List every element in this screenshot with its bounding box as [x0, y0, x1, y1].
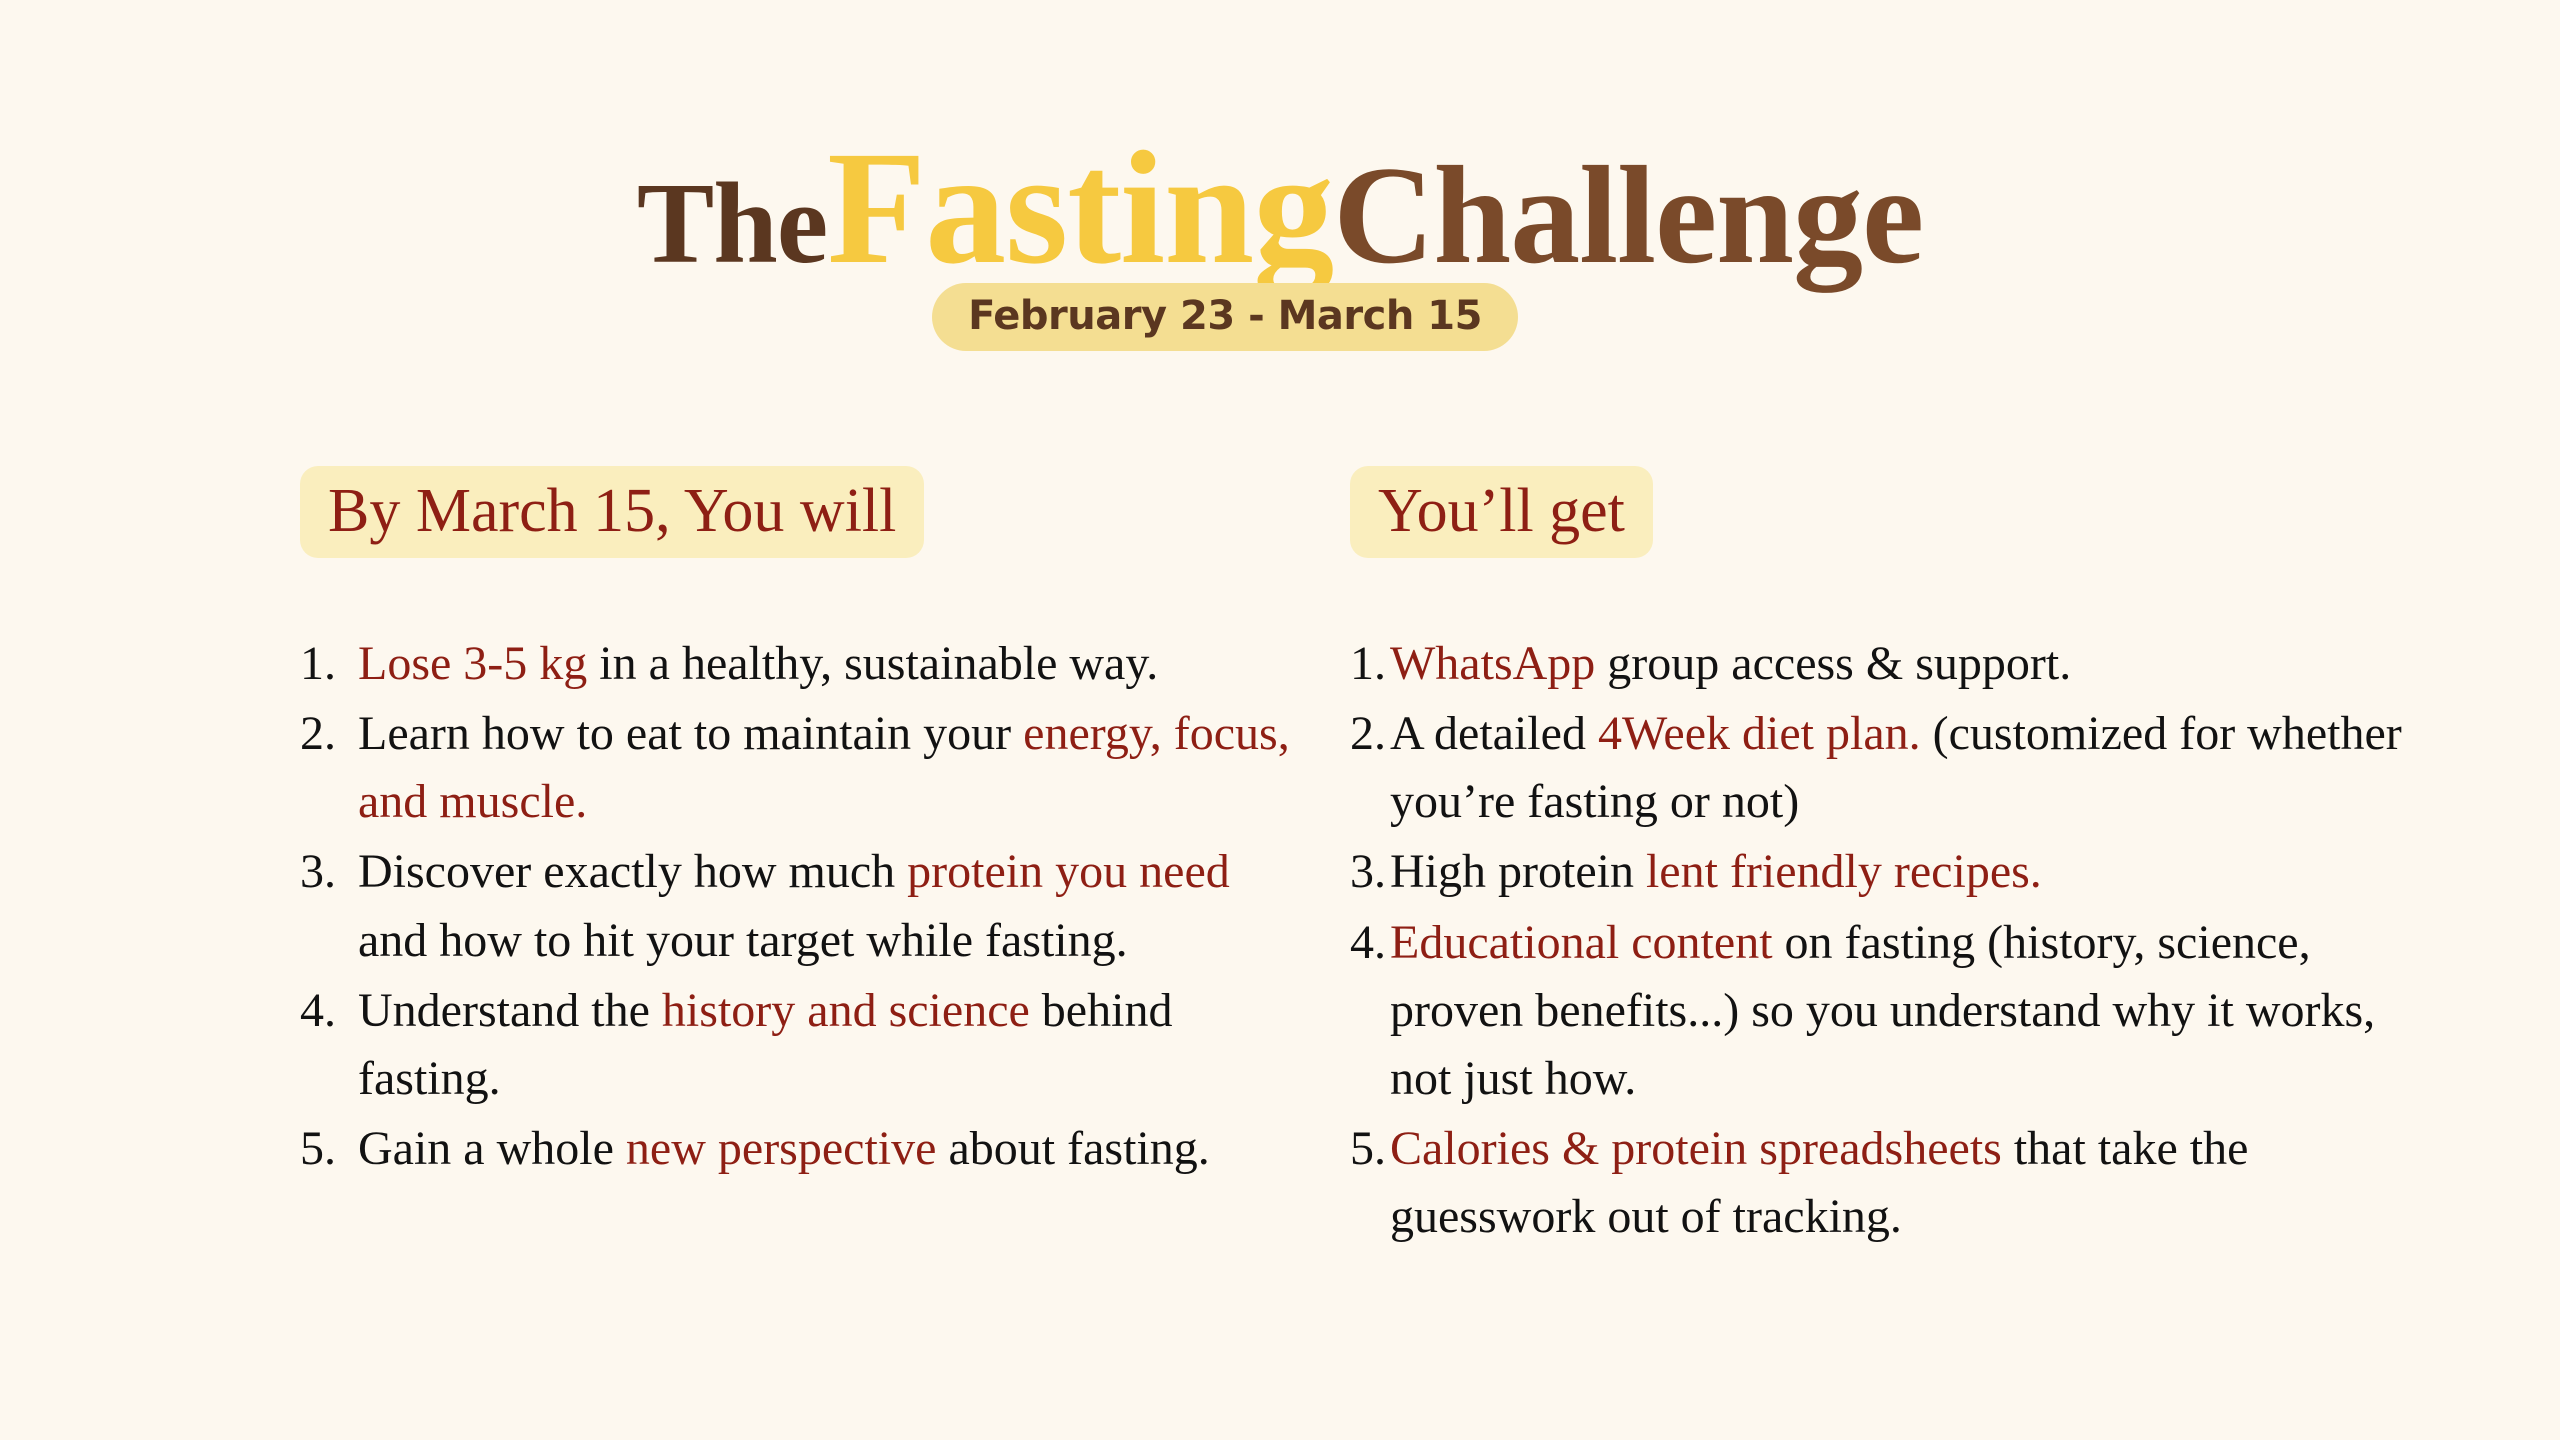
list-item-number: 2.	[300, 700, 358, 768]
list-item-text: Lose 3-5 kg in a healthy, sustainable wa…	[358, 630, 1300, 698]
list-item-text: Calories & protein spreadsheets that tak…	[1390, 1115, 2430, 1251]
highlighted-phrase: Lose 3-5 kg	[358, 637, 587, 690]
list-item-text: Discover exactly how much protein you ne…	[358, 838, 1300, 974]
list-item-text: WhatsApp group access & support.	[1390, 630, 2430, 698]
column-outcomes: By March 15, You will 1.Lose 3-5 kg in a…	[300, 466, 1300, 1185]
list-item-number: 5.	[1350, 1115, 1390, 1183]
column-heading-outcomes: By March 15, You will	[300, 466, 924, 558]
plain-phrase: group access & support.	[1595, 637, 2071, 690]
plain-phrase: Learn how to eat to maintain your	[358, 707, 1023, 760]
list-item: 4.Understand the history and science beh…	[300, 977, 1300, 1113]
highlighted-phrase: protein you need	[907, 845, 1230, 898]
list-item: 3.Discover exactly how much protein you …	[300, 838, 1300, 974]
list-item-text: Educational content on fasting (history,…	[1390, 909, 2430, 1113]
list-item-number: 4.	[300, 977, 358, 1045]
column-deliverables: You’ll get 1.WhatsApp group access & sup…	[1350, 466, 2430, 1253]
plain-phrase: Gain a whole	[358, 1122, 626, 1175]
list-item-text: A detailed 4Week diet plan. (customized …	[1390, 700, 2430, 836]
column-heading-deliverables: You’ll get	[1350, 466, 1653, 558]
deliverables-list: 1.WhatsApp group access & support.2.A de…	[1350, 630, 2430, 1251]
list-item: 5.Gain a whole new perspective about fas…	[300, 1115, 1300, 1183]
list-item-number: 2.	[1350, 700, 1390, 768]
list-item: 2.A detailed 4Week diet plan. (customize…	[1350, 700, 2430, 836]
title-word-the: The	[637, 160, 827, 288]
content-columns: By March 15, You will 1.Lose 3-5 kg in a…	[0, 466, 2560, 1366]
list-item: 1.WhatsApp group access & support.	[1350, 630, 2430, 698]
highlighted-phrase: WhatsApp	[1390, 637, 1595, 690]
list-item-text: Gain a whole new perspective about fasti…	[358, 1115, 1300, 1183]
title-word-fasting: Fasting	[827, 119, 1333, 298]
list-item-number: 1.	[300, 630, 358, 698]
highlighted-phrase: Educational content	[1390, 916, 1773, 969]
outcomes-list: 1.Lose 3-5 kg in a healthy, sustainable …	[300, 630, 1300, 1183]
list-item: 4.Educational content on fasting (histor…	[1350, 909, 2430, 1113]
highlighted-phrase: Calories & protein spreadsheets	[1390, 1122, 2002, 1175]
plain-phrase: and how to hit your target while fasting…	[358, 914, 1128, 967]
list-item-number: 3.	[1350, 838, 1390, 906]
highlighted-phrase: new perspective	[626, 1122, 937, 1175]
list-item-text: Understand the history and science behin…	[358, 977, 1300, 1113]
plain-phrase: A detailed	[1390, 707, 1598, 760]
header: TheFastingChallenge	[0, 0, 2560, 290]
list-item: 5.Calories & protein spreadsheets that t…	[1350, 1115, 2430, 1251]
plain-phrase: Discover exactly how much	[358, 845, 907, 898]
page-title: TheFastingChallenge	[0, 0, 2560, 290]
list-item-text: High protein lent friendly recipes.	[1390, 838, 2430, 906]
plain-phrase: Understand the	[358, 984, 662, 1037]
plain-phrase: about fasting.	[936, 1122, 1209, 1175]
list-item-number: 5.	[300, 1115, 358, 1183]
date-badge-container: February 23 - March 15	[0, 283, 2560, 351]
list-item: 2.Learn how to eat to maintain your ener…	[300, 700, 1300, 836]
list-item-number: 1.	[1350, 630, 1390, 698]
list-item: 3.High protein lent friendly recipes.	[1350, 838, 2430, 906]
plain-phrase: in a healthy, sustainable way.	[587, 637, 1158, 690]
list-item-number: 4.	[1350, 909, 1390, 977]
list-item-text: Learn how to eat to maintain your energy…	[358, 700, 1300, 836]
plain-phrase: High protein	[1390, 845, 1646, 898]
date-range-badge: February 23 - March 15	[932, 283, 1518, 351]
highlighted-phrase: lent friendly recipes.	[1646, 845, 2042, 898]
list-item-number: 3.	[300, 838, 358, 906]
highlighted-phrase: 4Week diet plan.	[1598, 707, 1921, 760]
title-word-challenge: Challenge	[1333, 138, 1923, 293]
list-item: 1.Lose 3-5 kg in a healthy, sustainable …	[300, 630, 1300, 698]
highlighted-phrase: history and science	[662, 984, 1030, 1037]
